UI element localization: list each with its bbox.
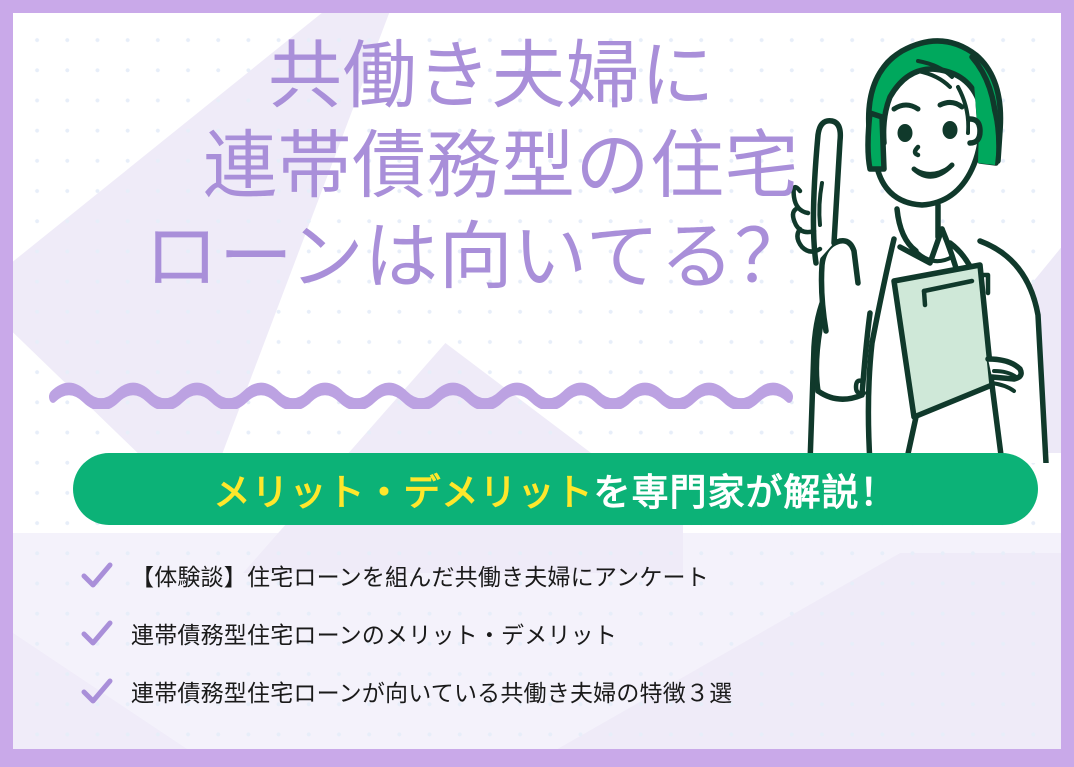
list-item: 【体験談】住宅ローンを組んだ共働き夫婦にアンケート bbox=[77, 546, 977, 604]
list-item-label: 連帯債務型住宅ローンが向いている共働き夫婦の特徴３選 bbox=[131, 674, 732, 708]
topic-list: 【体験談】住宅ローンを組んだ共働き夫婦にアンケート 連帯債務型住宅ローンのメリッ… bbox=[77, 546, 977, 720]
check-icon bbox=[77, 671, 117, 711]
headline-line-2: 連帯債務型の住宅 bbox=[13, 121, 813, 211]
list-item: 連帯債務型住宅ローンが向いている共働き夫婦の特徴３選 bbox=[77, 662, 977, 720]
check-icon bbox=[77, 555, 117, 595]
list-item-label: 連帯債務型住宅ローンのメリット・デメリット bbox=[131, 616, 617, 650]
wavy-underline-divider bbox=[49, 375, 811, 409]
headline-line-3: ローンは向いてる？ bbox=[13, 212, 813, 302]
pill-text-group: メリット・デメリットを専門家が解説！ bbox=[214, 462, 898, 516]
list-item: 連帯債務型住宅ローンのメリット・デメリット bbox=[77, 604, 977, 662]
check-icon bbox=[77, 613, 117, 653]
list-item-label: 【体験談】住宅ローンを組んだ共働き夫婦にアンケート bbox=[131, 558, 709, 592]
pill-highlight-text: メリット・デメリット bbox=[214, 472, 594, 513]
banner-canvas: 共働き夫婦に 連帯債務型の住宅 ローンは向いてる？ メリット・デメリットを専門家… bbox=[13, 13, 1061, 749]
page-title: 共働き夫婦に 連帯債務型の住宅 ローンは向いてる？ bbox=[13, 31, 813, 302]
article-header-banner: 共働き夫婦に 連帯債務型の住宅 ローンは向いてる？ メリット・デメリットを専門家… bbox=[0, 0, 1074, 767]
subtitle-pill-banner: メリット・デメリットを専門家が解説！ bbox=[73, 453, 1038, 525]
headline-line-1: 共働き夫婦に bbox=[13, 31, 813, 121]
pill-remainder-text: を専門家が解説！ bbox=[594, 472, 898, 513]
